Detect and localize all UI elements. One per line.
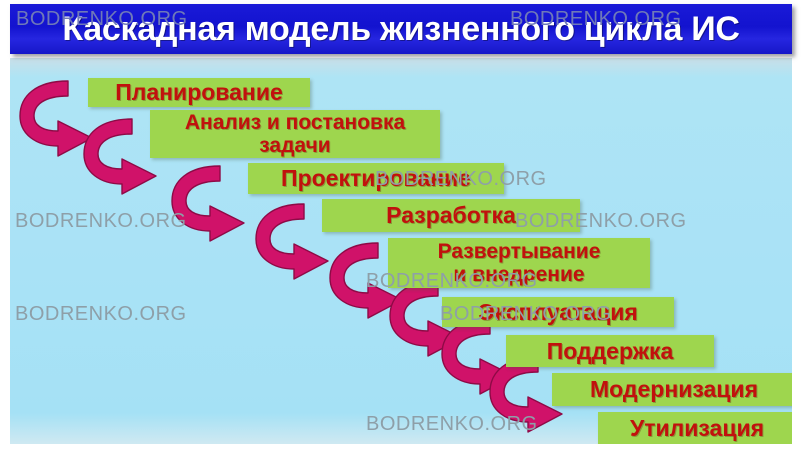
stage-label-3: Проектирование	[281, 166, 471, 191]
stage-box-7[interactable]: Поддержка	[506, 335, 714, 367]
watermark-4: BODRENKO.ORG	[15, 210, 187, 233]
stage-label-5: Развертывание и внедрение	[438, 240, 601, 286]
stage-box-8[interactable]: Модернизация	[552, 373, 792, 406]
slide-title-bar: Каскадная модель жизненного цикла ИС	[10, 4, 792, 54]
diagram-canvas: ПланированиеАнализ и постановка задачиПр…	[10, 58, 792, 444]
stage-label-8: Модернизация	[590, 377, 758, 402]
arrow-design-to-development	[170, 163, 248, 245]
page-title: Каскадная модель жизненного цикла ИС	[10, 4, 792, 54]
stage-label-1: Планирование	[115, 80, 283, 105]
stage-box-4[interactable]: Разработка	[322, 199, 580, 232]
stage-box-5[interactable]: Развертывание и внедрение	[388, 238, 650, 288]
stage-label-9: Утилизация	[630, 416, 764, 441]
stage-box-2[interactable]: Анализ и постановка задачи	[150, 110, 440, 158]
stage-box-1[interactable]: Планирование	[88, 78, 310, 107]
slide-root: Каскадная модель жизненного цикла ИС Пла…	[0, 0, 802, 451]
arrow-analysis-to-design	[82, 116, 160, 198]
stage-label-6: Эксплуатация	[478, 300, 638, 325]
stage-box-6[interactable]: Эксплуатация	[442, 297, 674, 327]
stage-label-7: Поддержка	[547, 339, 674, 364]
arrow-development-to-deployment	[254, 201, 332, 283]
stage-box-9[interactable]: Утилизация	[598, 412, 792, 444]
stage-label-2: Анализ и постановка задачи	[185, 111, 405, 157]
stage-label-4: Разработка	[386, 203, 516, 228]
stage-box-3[interactable]: Проектирование	[248, 163, 504, 194]
watermark-7: BODRENKO.ORG	[15, 303, 187, 326]
